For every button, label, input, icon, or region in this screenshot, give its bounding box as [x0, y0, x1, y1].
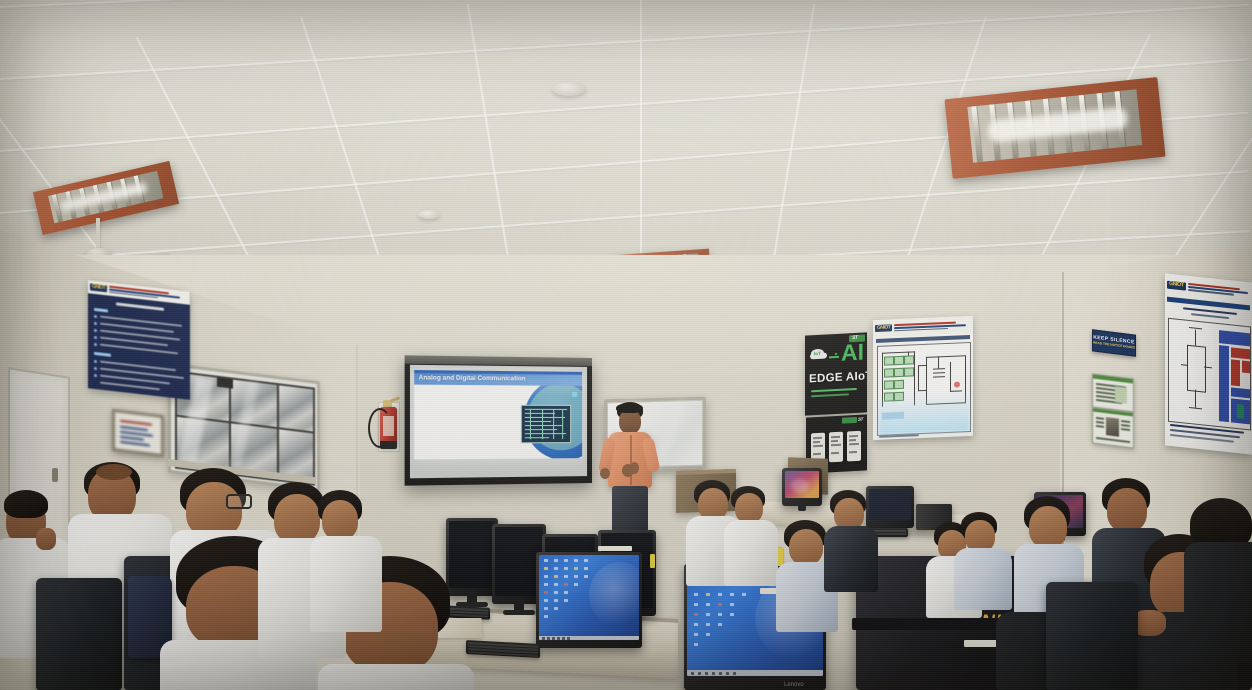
poster-circuit-diagram: GNIOT — [873, 316, 973, 440]
asset-tag-2 — [650, 554, 655, 568]
aiot-iot-badge: IoT — [814, 351, 821, 356]
windows-desktop[interactable] — [539, 555, 639, 640]
chair-left-1 — [36, 578, 122, 690]
projection-screen[interactable]: Analog and Digital Communication — [405, 355, 592, 485]
lenovo-brand-mark: Lenovo — [784, 682, 804, 688]
gniot-logo-dept: GNIOT — [1167, 281, 1186, 290]
framed-notice-left — [112, 409, 164, 457]
smoke-detector-2 — [418, 210, 440, 219]
poster-notice-left: GNIOT — [88, 280, 190, 400]
aiot-ai-letter: AI — [841, 343, 864, 364]
poster-edge-aiot: ST IoT AI EDGE AIoT — [805, 332, 867, 415]
slide-circuit-image — [521, 405, 571, 444]
windows-taskbar[interactable] — [539, 636, 639, 640]
aiot-title: EDGE AIoT — [809, 370, 867, 385]
gniot-logo: GNIOT — [90, 283, 107, 292]
presenter-trousers — [612, 486, 648, 532]
poster-small-upper-right — [1092, 373, 1134, 412]
classroom-photo: GNIOT — [0, 0, 1252, 690]
monitor-row-1[interactable] — [446, 518, 498, 596]
st-logo-2: ST — [858, 417, 863, 422]
presenter — [600, 402, 670, 532]
monitor-label-strip — [598, 546, 632, 551]
smoke-detector — [552, 82, 586, 96]
monitor-windows-desktop[interactable] — [536, 552, 642, 648]
extinguisher-hose — [368, 408, 392, 448]
chair-right-1 — [1046, 582, 1138, 690]
door-handle[interactable] — [52, 468, 58, 482]
poster-small-lower-right — [1092, 407, 1134, 448]
windows-taskbar-lenovo[interactable] — [687, 670, 823, 676]
monitor-back-1[interactable] — [782, 468, 822, 506]
eyeglasses — [226, 494, 252, 509]
monitor-screen-windows[interactable] — [539, 555, 639, 640]
monitor-back-2[interactable] — [866, 486, 914, 528]
poster-department: GNIOT — [1165, 273, 1252, 454]
slide-marker — [572, 392, 577, 397]
gniot-logo-circuit: GNIOT — [875, 324, 892, 332]
